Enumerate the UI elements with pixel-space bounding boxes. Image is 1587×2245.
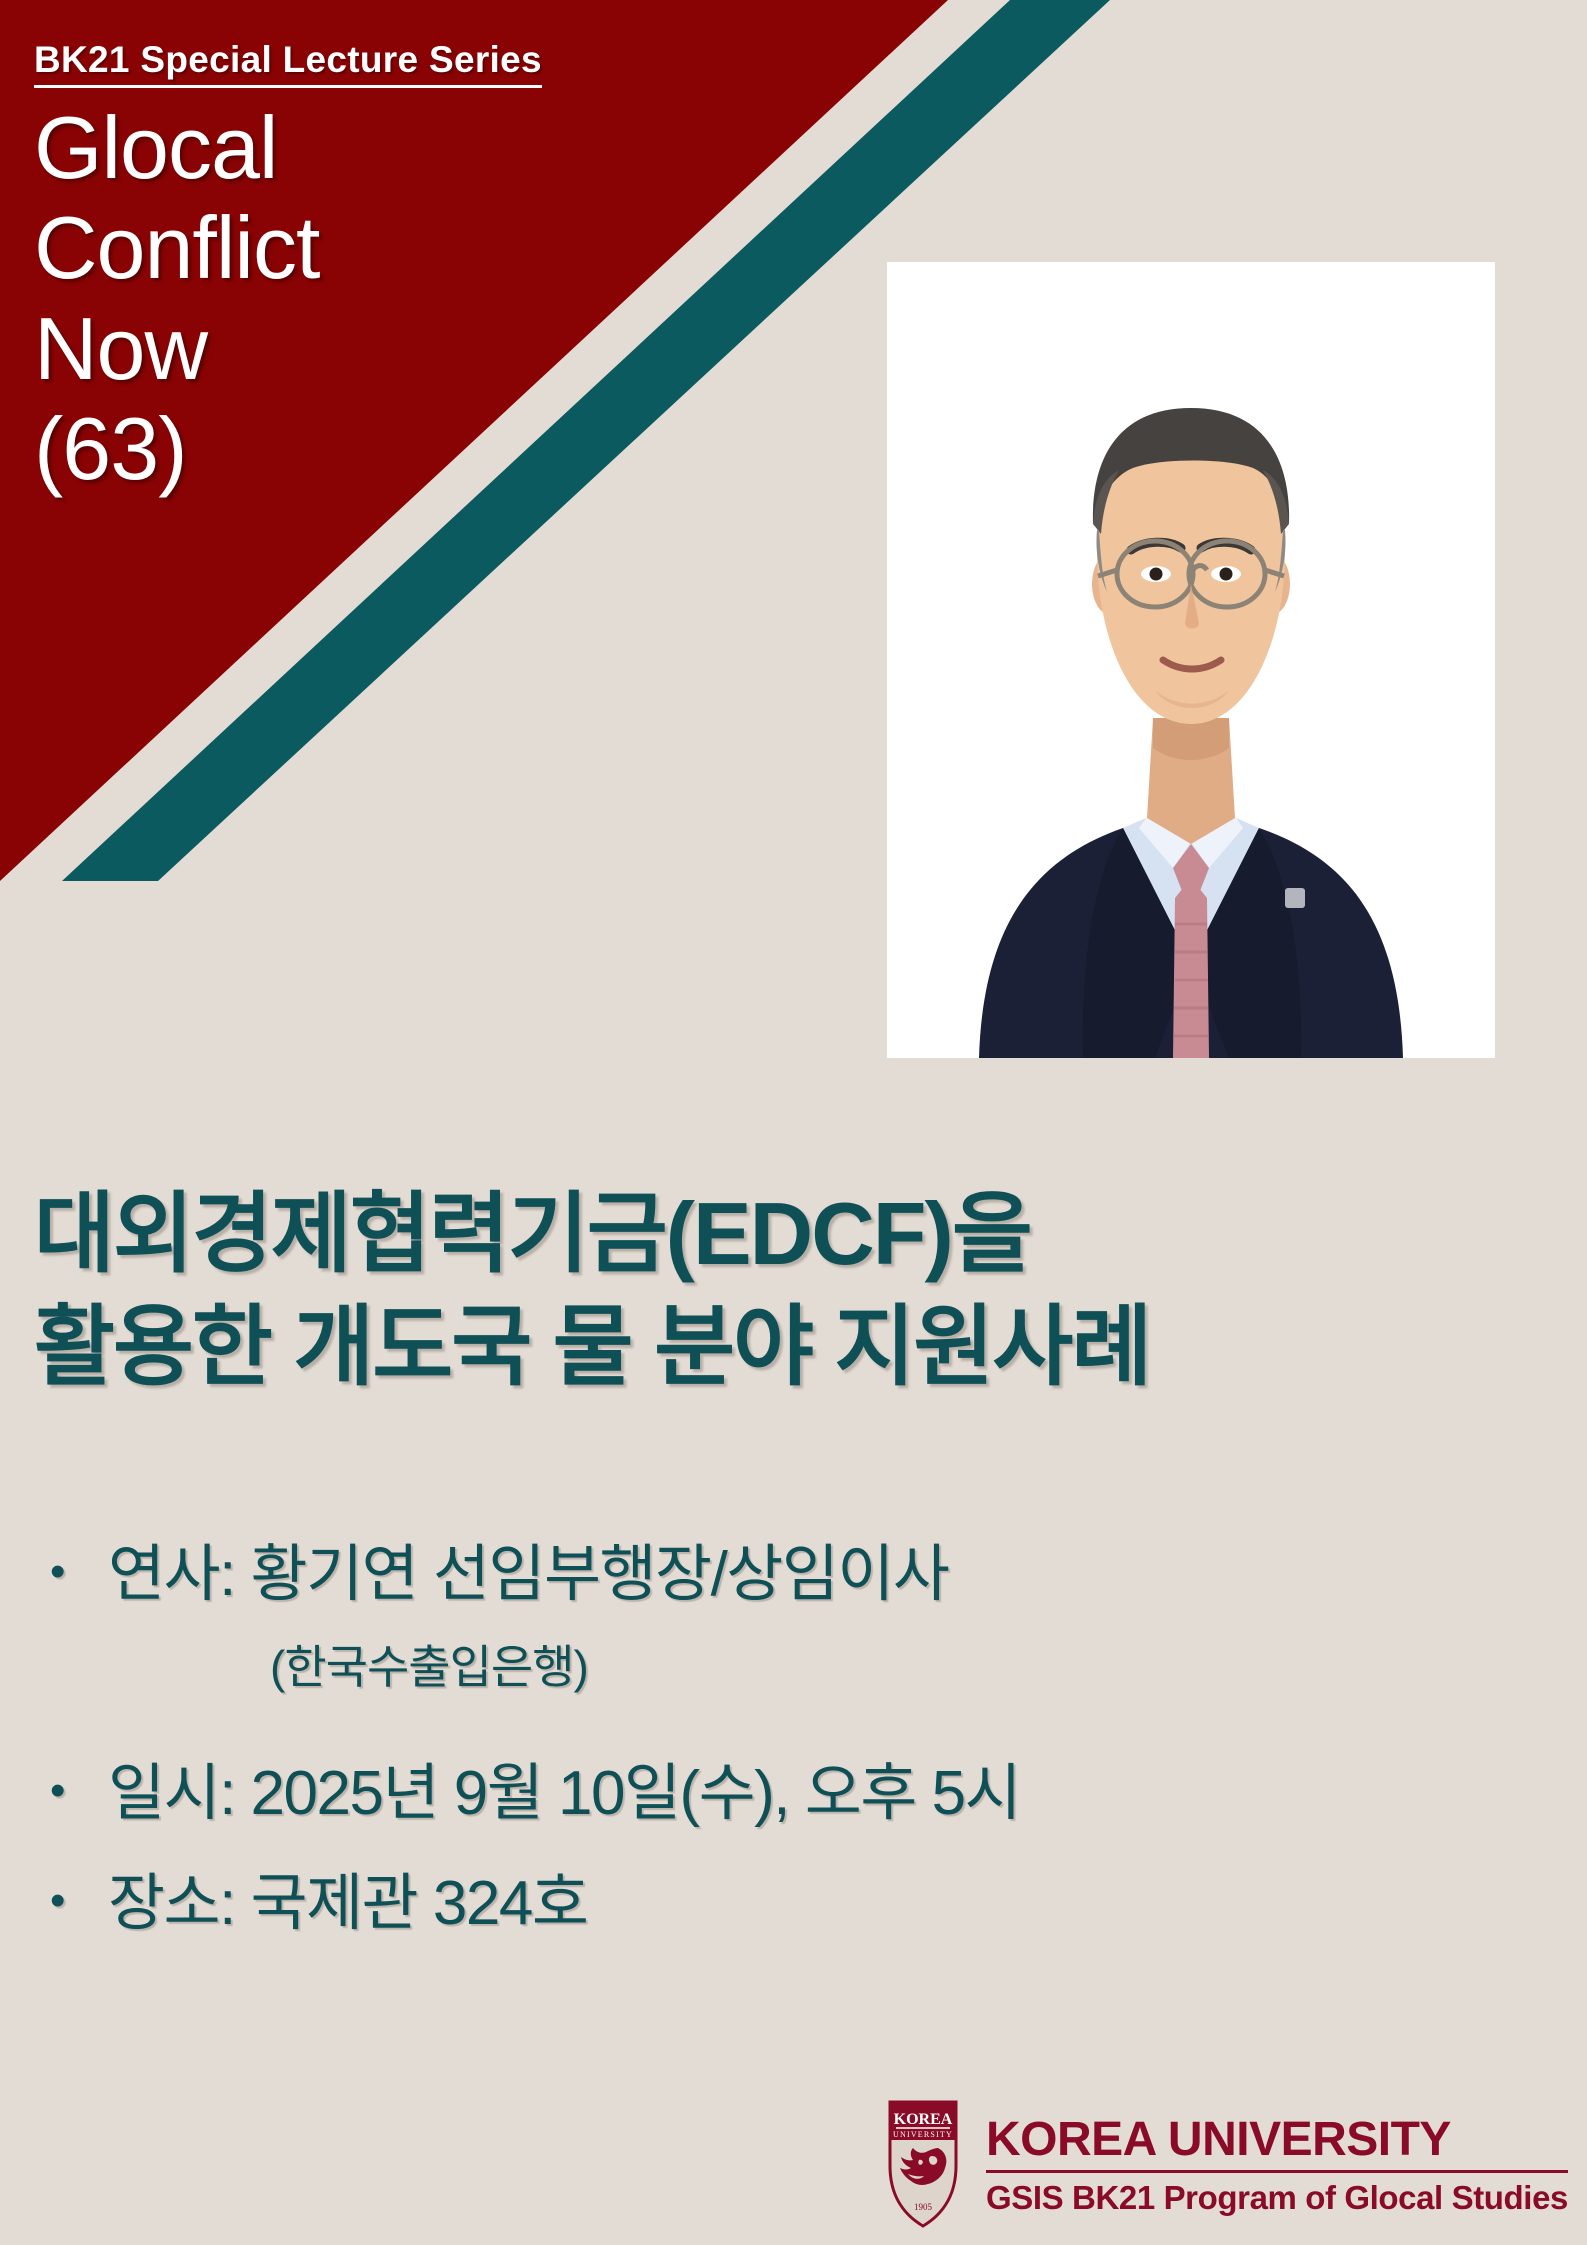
lecture-title-line-4: (63)	[34, 399, 319, 499]
crest-year-label: 1905	[914, 2202, 933, 2212]
lecture-title-line-2: Conflict	[34, 198, 319, 298]
speaker-affiliation: (한국수출입은행)	[50, 1631, 1480, 1697]
list-item-venue: • 장소: 국제관 324호	[50, 1869, 1480, 1938]
lecture-series-title: Glocal Conflict Now (63)	[34, 98, 319, 499]
program-name: GSIS BK21 Program of Glocal Studies	[986, 2179, 1568, 2217]
wordmark-divider	[986, 2170, 1568, 2173]
list-item-datetime: • 일시: 2025년 9월 10일(수), 오후 5시	[50, 1759, 1480, 1828]
korea-university-logo: KOREA UNIVERSITY 1905 KOREA UNIVERSITY G…	[888, 2100, 1568, 2228]
spacer	[50, 1829, 1480, 1869]
speaker-text: 연사: 황기연 선임부행장/상임이사	[108, 1540, 1480, 1609]
crest-university-label: UNIVERSITY	[893, 2130, 953, 2139]
university-name: KOREA UNIVERSITY	[986, 2115, 1568, 2165]
bullet-icon: •	[50, 1869, 108, 1933]
bullet-icon: •	[50, 1759, 108, 1823]
main-title-line-1: 대외경제협력기금(EDCF)을	[34, 1178, 1454, 1291]
korea-university-crest-icon: KOREA UNIVERSITY 1905	[888, 2100, 958, 2228]
series-label: BK21 Special Lecture Series	[34, 40, 542, 88]
logo-wordmark: KOREA UNIVERSITY GSIS BK21 Program of Gl…	[986, 2111, 1568, 2217]
main-title-line-2: 활용한 개도국 물 분야 지원사례	[34, 1291, 1454, 1404]
list-item-speaker: • 연사: 황기연 선임부행장/상임이사	[50, 1540, 1480, 1609]
lecture-title-line-1: Glocal	[34, 98, 319, 198]
bullet-icon: •	[50, 1540, 108, 1604]
crest-shield-icon: KOREA UNIVERSITY 1905	[888, 2100, 958, 2228]
lecture-details-list: • 연사: 황기연 선임부행장/상임이사 (한국수출입은행) • 일시: 202…	[50, 1540, 1480, 1938]
lecture-title-line-3: Now	[34, 299, 319, 399]
page-title: 대외경제협력기금(EDCF)을 활용한 개도국 물 분야 지원사례	[34, 1178, 1454, 1403]
crest-korea-label: KOREA	[894, 2111, 953, 2128]
speaker-photo-frame	[887, 262, 1495, 1058]
lecture-poster: BK21 Special Lecture Series Glocal Confl…	[0, 0, 1587, 2245]
speaker-portrait	[887, 262, 1495, 1058]
datetime-text: 일시: 2025년 9월 10일(수), 오후 5시	[108, 1759, 1480, 1828]
venue-text: 장소: 국제관 324호	[108, 1869, 1480, 1938]
spacer	[50, 1697, 1480, 1759]
